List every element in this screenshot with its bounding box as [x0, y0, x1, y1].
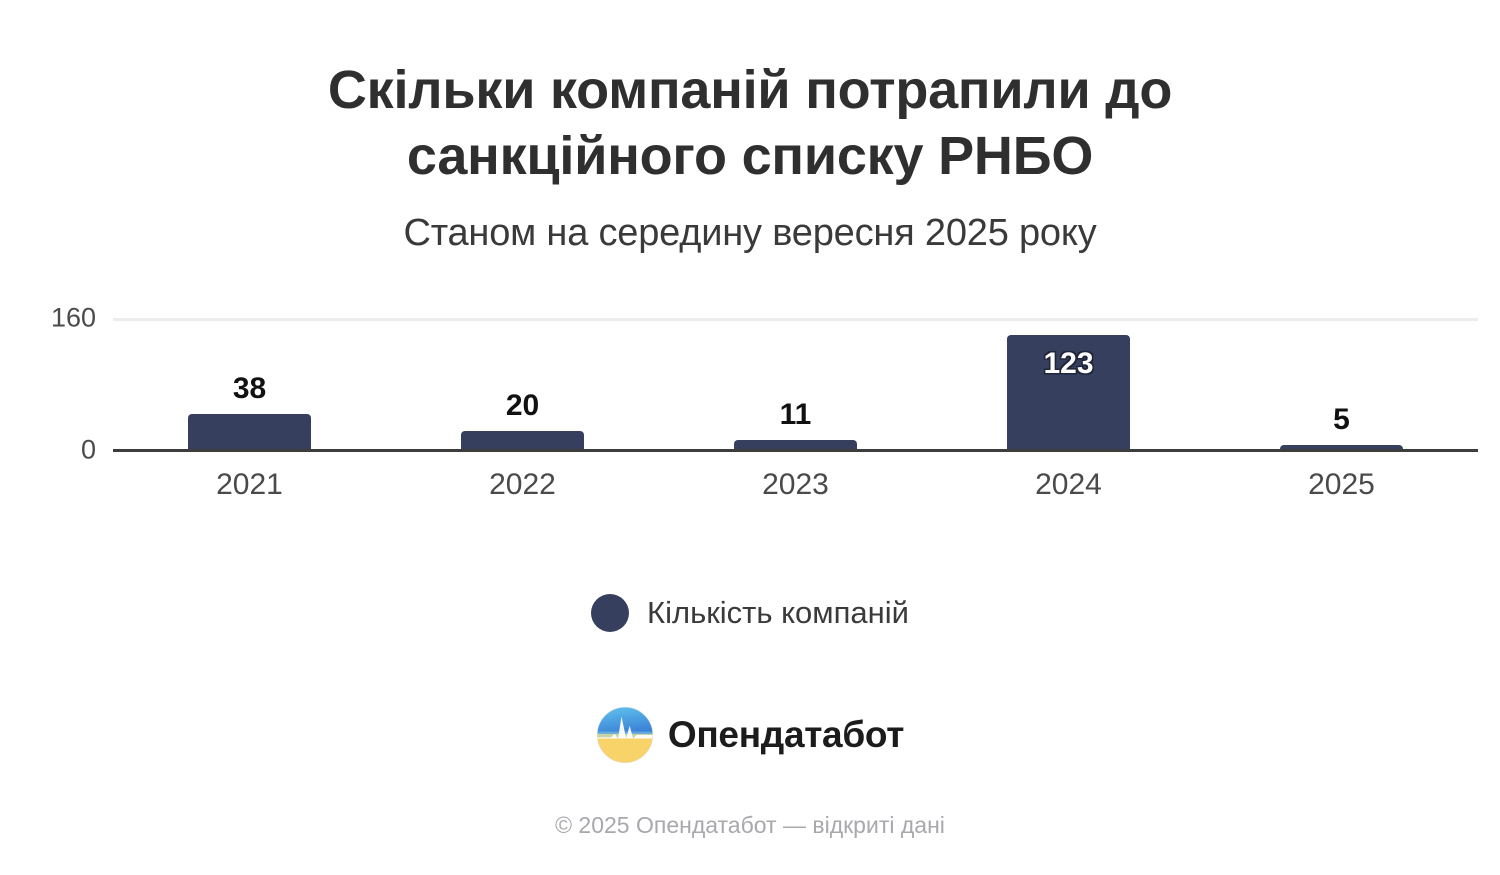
opendatabot-logo-icon — [596, 706, 654, 764]
page-subtitle: Станом на середину вересня 2025 року — [0, 212, 1500, 255]
bar-2021[interactable] — [188, 414, 311, 450]
bar-2022[interactable] — [461, 431, 584, 450]
y-axis-tick-zero: 0 — [0, 435, 96, 466]
x-axis-tick-2025: 2025 — [1205, 468, 1478, 502]
x-axis-tick-2022: 2022 — [386, 468, 659, 502]
bar-value-2023: 11 — [780, 398, 812, 432]
y-axis-tick-top: 160 — [0, 303, 96, 334]
bar-slot-2022[interactable]: 20 — [386, 300, 659, 450]
legend-item-label: Кількість компаній — [647, 595, 909, 631]
x-axis-tick-2021: 2021 — [113, 468, 386, 502]
x-axis-tick-2024: 2024 — [932, 468, 1205, 502]
bar-slot-2025[interactable]: 5 — [1205, 300, 1478, 450]
x-axis: 2021 2022 2023 2024 2025 — [113, 468, 1478, 502]
x-axis-tick-2023: 2023 — [659, 468, 932, 502]
footer-copyright: © 2025 Опендатабот — відкриті дані — [0, 812, 1500, 839]
brand-block: Опендатабот — [0, 706, 1500, 764]
chart-page: Скільки компаній потрапили до санкційног… — [0, 0, 1500, 875]
y-axis: 160 0 — [0, 300, 96, 465]
bar-value-2024: 123 — [1043, 347, 1093, 381]
brand-name-label: Опендатабот — [668, 714, 904, 756]
legend-swatch-icon — [591, 594, 629, 632]
bar-slot-2021[interactable]: 38 — [113, 300, 386, 450]
bar-value-2025: 5 — [1333, 403, 1350, 437]
chart-plot-area: 160 0 38 20 11 123 5 — [0, 300, 1500, 530]
chart-legend[interactable]: Кількість компаній — [0, 594, 1500, 632]
bar-value-2022: 20 — [506, 389, 539, 423]
bar-group: 38 20 11 123 5 — [113, 300, 1478, 450]
bar-slot-2024[interactable]: 123 — [932, 300, 1205, 450]
x-axis-baseline — [113, 449, 1478, 452]
page-title: Скільки компаній потрапили до санкційног… — [245, 58, 1255, 190]
bar-slot-2023[interactable]: 11 — [659, 300, 932, 450]
bar-value-2021: 38 — [233, 372, 266, 406]
title-block: Скільки компаній потрапили до санкційног… — [0, 58, 1500, 255]
